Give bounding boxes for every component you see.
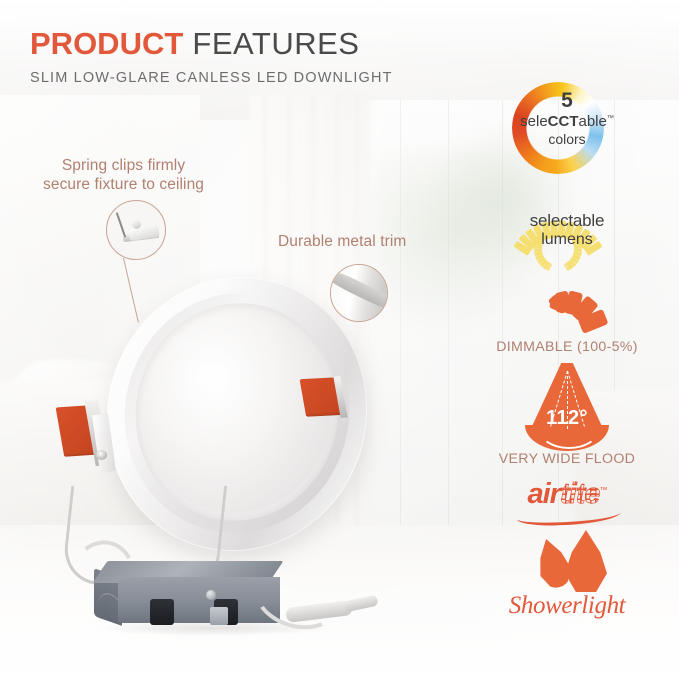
- dimmable-label: DIMMABLE (100-5%): [455, 339, 679, 355]
- cct-wordmark: seleCCTable™: [455, 113, 679, 132]
- lumens-line1: selectable: [455, 211, 679, 231]
- magnifier-spring-clip: [106, 200, 166, 260]
- callout-metal-trim-line1: Durable metal trim: [278, 233, 406, 252]
- callout-spring-clips-line2: secure fixture to ceiling: [43, 176, 204, 195]
- callout-metal-trim: Durable metal trim: [278, 233, 406, 252]
- page-header: PRODUCT FEATURES SLIM LOW-GLARE CANLESS …: [30, 28, 393, 86]
- feature-badge-list: 5 seleCCTable™ colors selectable lumens …: [455, 82, 679, 638]
- cct-word-post: able: [579, 113, 607, 130]
- feature-badge-selectable-cct: 5 seleCCTable™ colors: [455, 82, 679, 174]
- lumens-line2: lumens: [455, 231, 679, 249]
- feature-badge-selectable-lumens: selectable lumens: [455, 179, 679, 279]
- junction-box-screw: [206, 590, 216, 600]
- cct-count: 5: [455, 90, 679, 111]
- callout-spring-clips: Spring clips firmly secure fixture to ce…: [43, 157, 204, 195]
- airtite-trademark: ™: [599, 485, 606, 494]
- airtite-swoosh-icon: [517, 504, 622, 527]
- spring-clip-wire: [116, 212, 126, 237]
- lumens-text-block: selectable lumens: [455, 211, 679, 249]
- page-title-bold: PRODUCT: [30, 26, 183, 61]
- junction-box-clip: [210, 607, 228, 625]
- cct-colors-label: colors: [455, 132, 679, 147]
- dimmer-gauge-icon: [524, 281, 612, 333]
- page-title-rest: FEATURES: [183, 26, 359, 61]
- spring-clip-left-screw: [96, 450, 107, 460]
- cct-trademark: ™: [607, 115, 614, 122]
- spring-clip-knob: [132, 220, 141, 229]
- beam-spread-arc: [539, 411, 599, 449]
- page-subtitle: SLIM LOW-GLARE CANLESS LED DOWNLIGHT: [30, 70, 393, 86]
- cable-connector-tip: [343, 595, 379, 613]
- product-downlight: [58, 268, 408, 668]
- callout-spring-clips-line1: Spring clips firmly: [43, 157, 204, 176]
- feature-badge-showerlight: Showerlight: [455, 530, 679, 638]
- airtite-word-a: air: [528, 478, 560, 510]
- feature-badge-very-wide-flood: 112° VERY WIDE FLOOD: [455, 363, 679, 478]
- feature-badge-dimmable: DIMMABLE (100-5%): [455, 281, 679, 365]
- cct-text-block: 5 seleCCTable™ colors: [455, 90, 679, 147]
- showerlight-wordmark: Showerlight: [455, 592, 679, 620]
- very-wide-flood-label: VERY WIDE FLOOD: [455, 451, 679, 467]
- cct-word-bold: CCT: [548, 113, 579, 130]
- junction-box-knockout-left: [150, 599, 174, 625]
- water-droplet-icon-right: [565, 530, 607, 592]
- cct-word-pre: sele: [520, 113, 548, 130]
- page-title: PRODUCT FEATURES: [30, 28, 393, 59]
- feature-badge-airtite: airtite™: [455, 476, 679, 524]
